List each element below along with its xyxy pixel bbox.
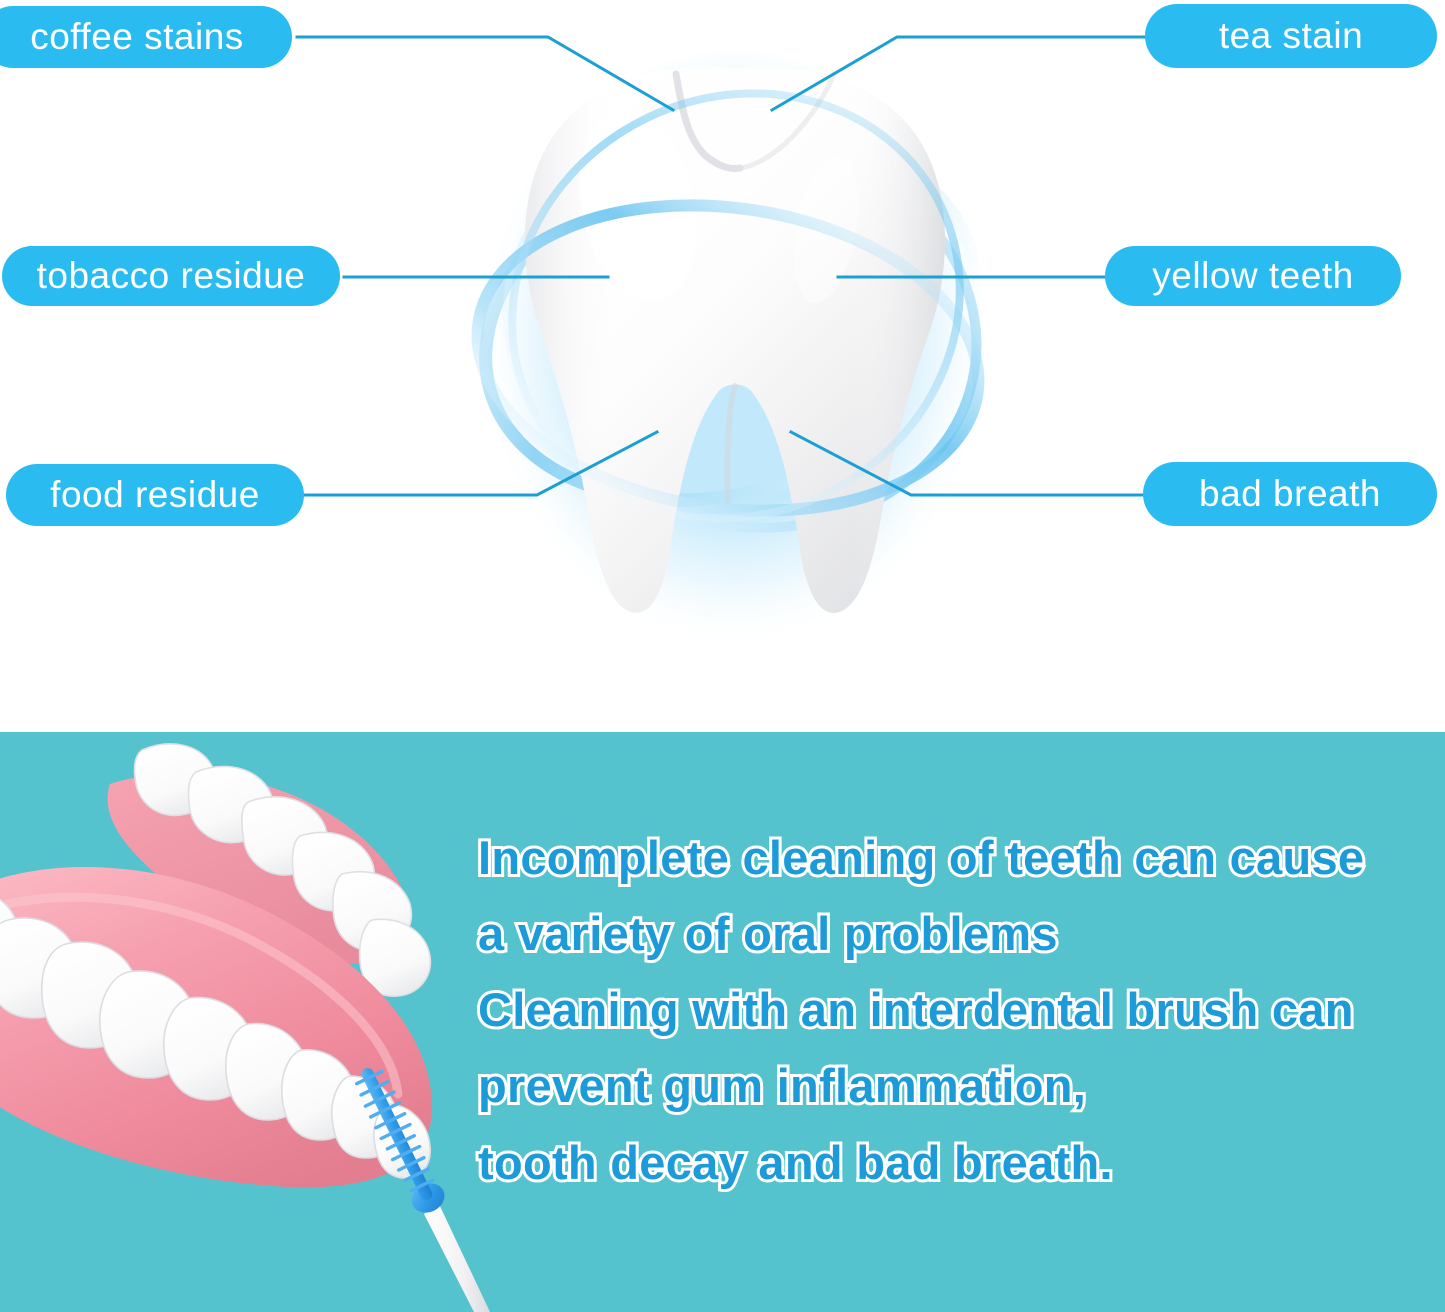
promo-line-4: prevent gum inflammation, [478, 1048, 1428, 1124]
promo-text-block: Incomplete cleaning of teeth can cause a… [478, 820, 1428, 1201]
label-bad-breath: bad breath [1143, 462, 1437, 526]
label-food-residue-text: food residue [50, 474, 260, 516]
promo-line-5: tooth decay and bad breath. [478, 1125, 1428, 1201]
label-coffee-stains-text: coffee stains [30, 16, 244, 58]
molar-tooth-illustration [430, 30, 1040, 670]
label-coffee-stains: coffee stains [0, 6, 292, 68]
promo-line-2: a variety of oral problems [478, 896, 1428, 972]
label-yellow-teeth: yellow teeth [1105, 246, 1401, 306]
product-infographic-page: coffee stains tea stain tobacco residue … [0, 0, 1445, 1312]
label-yellow-teeth-text: yellow teeth [1152, 255, 1353, 297]
label-tobacco-residue: tobacco residue [2, 246, 340, 306]
label-food-residue: food residue [6, 464, 304, 526]
label-tea-stain: tea stain [1145, 4, 1437, 68]
label-tobacco-residue-text: tobacco residue [37, 255, 306, 297]
label-tea-stain-text: tea stain [1219, 15, 1363, 57]
promo-line-3: Cleaning with an interdental brush can [478, 972, 1428, 1048]
denture-model-illustration [0, 732, 490, 1312]
top-panel-tooth-problems: coffee stains tea stain tobacco residue … [0, 0, 1445, 732]
promo-line-1: Incomplete cleaning of teeth can cause [478, 820, 1428, 896]
bottom-panel-promo: Incomplete cleaning of teeth can cause a… [0, 732, 1445, 1312]
label-bad-breath-text: bad breath [1199, 473, 1381, 515]
interdental-brush-handle [424, 1202, 490, 1312]
